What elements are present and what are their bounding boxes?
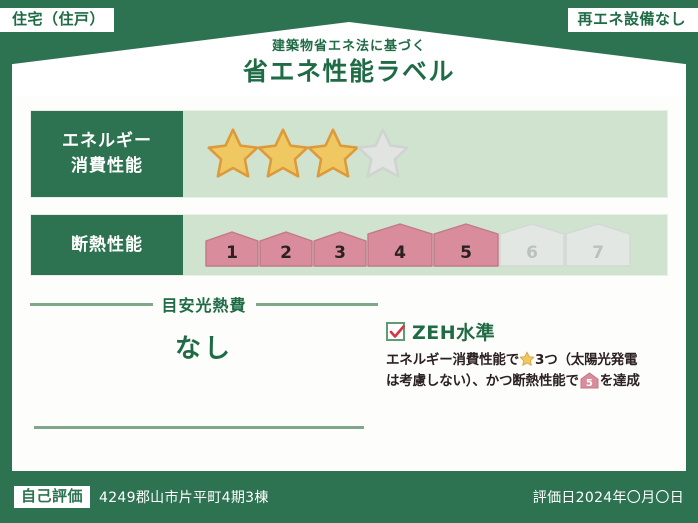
insulation-performance-body: 1234567 — [183, 215, 667, 275]
house-icon-inline: 5 — [580, 372, 599, 389]
insulation-level-scale: 1234567 — [205, 223, 631, 267]
footer-address: 4249郡山市片平町4期3棟 — [99, 487, 269, 507]
insulation-level-3: 3 — [313, 231, 367, 267]
roof-shape — [12, 22, 686, 100]
zeh-desc-part2: 3つ（太陽光発電 — [535, 352, 637, 368]
zeh-heading: ZEH水準 — [386, 318, 678, 345]
heading-rule-right — [256, 303, 379, 306]
energy-performance-label-line2: 消費性能 — [71, 154, 143, 179]
utility-cost-bottom-rule — [34, 426, 364, 429]
insulation-level-value: 6 — [499, 245, 565, 262]
utility-cost-heading-text: 目安光熱費 — [153, 292, 256, 316]
footer: 自己評価 4249郡山市片平町4期3棟 評価日2024年〇月〇日 — [0, 471, 698, 523]
insulation-level-6: 6 — [499, 223, 565, 267]
insulation-level-value: 1 — [205, 245, 259, 262]
insulation-level-value: 5 — [433, 245, 499, 262]
insulation-level-2: 2 — [259, 231, 313, 267]
insulation-performance-label: 断熱性能 — [31, 215, 183, 275]
insulation-level-value: 4 — [367, 245, 433, 262]
star-icon-inline — [519, 351, 535, 367]
energy-performance-row: エネルギー 消費性能 — [30, 110, 668, 198]
zeh-description: エネルギー消費性能で3つ（太陽光発電は考慮しない）、かつ断熱性能で5を達成 — [386, 350, 678, 392]
energy-performance-label-line1: エネルギー — [62, 129, 152, 154]
utility-cost-heading: 目安光熱費 — [30, 292, 378, 316]
insulation-level-value: 3 — [313, 245, 367, 262]
star-icon-empty — [355, 126, 411, 182]
insulation-level-5: 5 — [433, 223, 499, 267]
insulation-level-7: 7 — [565, 223, 631, 267]
check-icon — [386, 322, 405, 341]
zeh-desc-line2-part1: は考慮しない）、かつ断熱性能で — [386, 373, 579, 389]
zeh-title: ZEH水準 — [412, 318, 495, 345]
insulation-performance-row: 断熱性能 1234567 — [30, 214, 668, 276]
badge-building-type: 住宅（住戸） — [0, 8, 114, 32]
self-evaluation-badge: 自己評価 — [14, 486, 90, 508]
insulation-level-value: 2 — [259, 245, 313, 262]
insulation-level-1: 1 — [205, 231, 259, 267]
utility-cost-value: なし — [30, 328, 378, 365]
insulation-level-value: 7 — [565, 245, 631, 262]
heading-rule-left — [30, 303, 153, 306]
insulation-level-4: 4 — [367, 223, 433, 267]
energy-performance-label: エネルギー 消費性能 — [31, 111, 183, 197]
zeh-block: ZEH水準 エネルギー消費性能で3つ（太陽光発電は考慮しない）、かつ断熱性能で5… — [386, 318, 678, 392]
house-icon-inline-value: 5 — [580, 379, 599, 389]
footer-evaluation-date: 評価日2024年〇月〇日 — [533, 487, 684, 507]
star-icon-filled — [205, 126, 261, 182]
badge-renewable-energy: 再エネ設備なし — [568, 8, 698, 32]
energy-performance-body — [183, 111, 667, 197]
star-rating — [205, 126, 405, 182]
label-card: エネルギー 消費性能 断熱性能 1234567 目安光熱費 なし ZEH水準 — [12, 96, 686, 471]
star-icon-filled — [255, 126, 311, 182]
zeh-desc-part3: を達成 — [600, 373, 640, 389]
star-icon-filled — [305, 126, 361, 182]
zeh-desc-part1: エネルギー消費性能で — [386, 352, 519, 368]
